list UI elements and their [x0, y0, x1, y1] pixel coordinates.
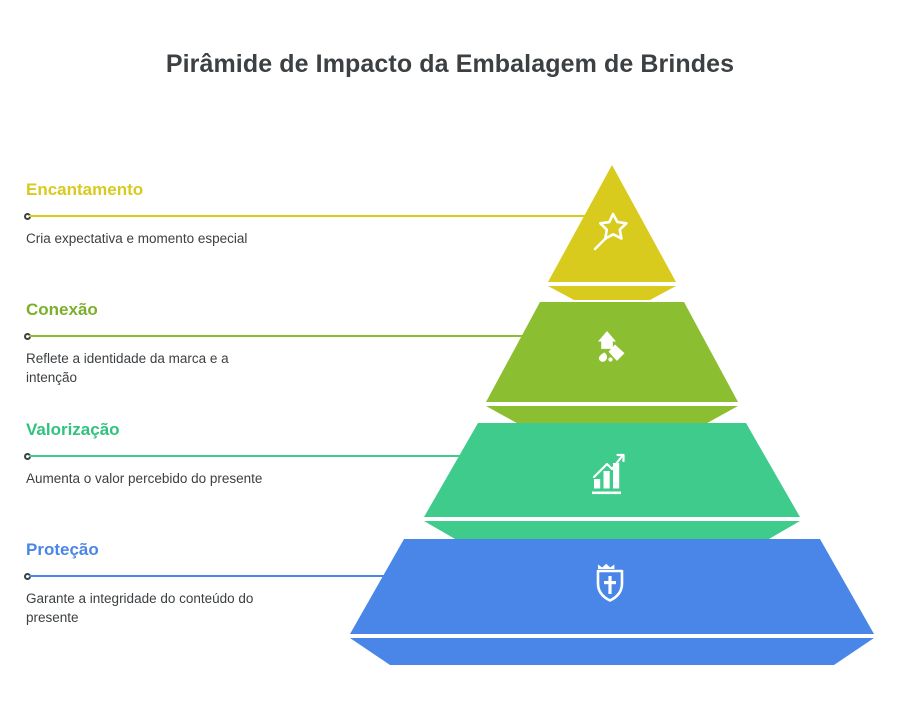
level-4-underside [350, 638, 874, 665]
label-valorizacao[interactable]: Valorização Aumenta o valor percebido do… [24, 420, 354, 488]
pyramid-level-valorizacao[interactable] [424, 423, 800, 543]
pyramid-level-protecao[interactable] [350, 539, 874, 665]
pyramid-level-encantamento[interactable] [548, 165, 676, 300]
label-valorizacao-heading: Valorização [26, 420, 354, 440]
label-encantamento-heading: Encantamento [26, 180, 354, 200]
label-encantamento[interactable]: Encantamento Cria expectativa e momento … [24, 180, 354, 248]
label-conexao-heading: Conexão [26, 300, 354, 320]
label-protecao-description: Garante a integridade do conteúdo do pre… [26, 589, 276, 627]
connector-rule [29, 335, 541, 337]
level-1-face [548, 165, 676, 282]
connector-rule [29, 575, 401, 577]
label-protecao-connector [24, 569, 354, 583]
pyramid-level-conexao[interactable] [486, 302, 738, 427]
label-protecao-heading: Proteção [26, 540, 354, 560]
connector-rule [29, 455, 471, 457]
connector-rule [29, 215, 607, 217]
label-encantamento-connector [24, 209, 354, 223]
label-encantamento-description: Cria expectativa e momento especial [26, 229, 276, 248]
pyramid-infographic: Pirâmide de Impacto da Embalagem de Brin… [0, 0, 900, 708]
level-1-underside [548, 286, 676, 300]
label-valorizacao-connector [24, 449, 354, 463]
level-4-face [350, 539, 874, 634]
label-protecao[interactable]: Proteção Garante a integridade do conteú… [24, 540, 354, 627]
label-conexao-connector [24, 329, 354, 343]
label-valorizacao-description: Aumenta o valor percebido do presente [26, 469, 276, 488]
label-conexao-description: Reflete a identidade da marca e a intenç… [26, 349, 276, 387]
label-conexao[interactable]: Conexão Reflete a identidade da marca e … [24, 300, 354, 387]
